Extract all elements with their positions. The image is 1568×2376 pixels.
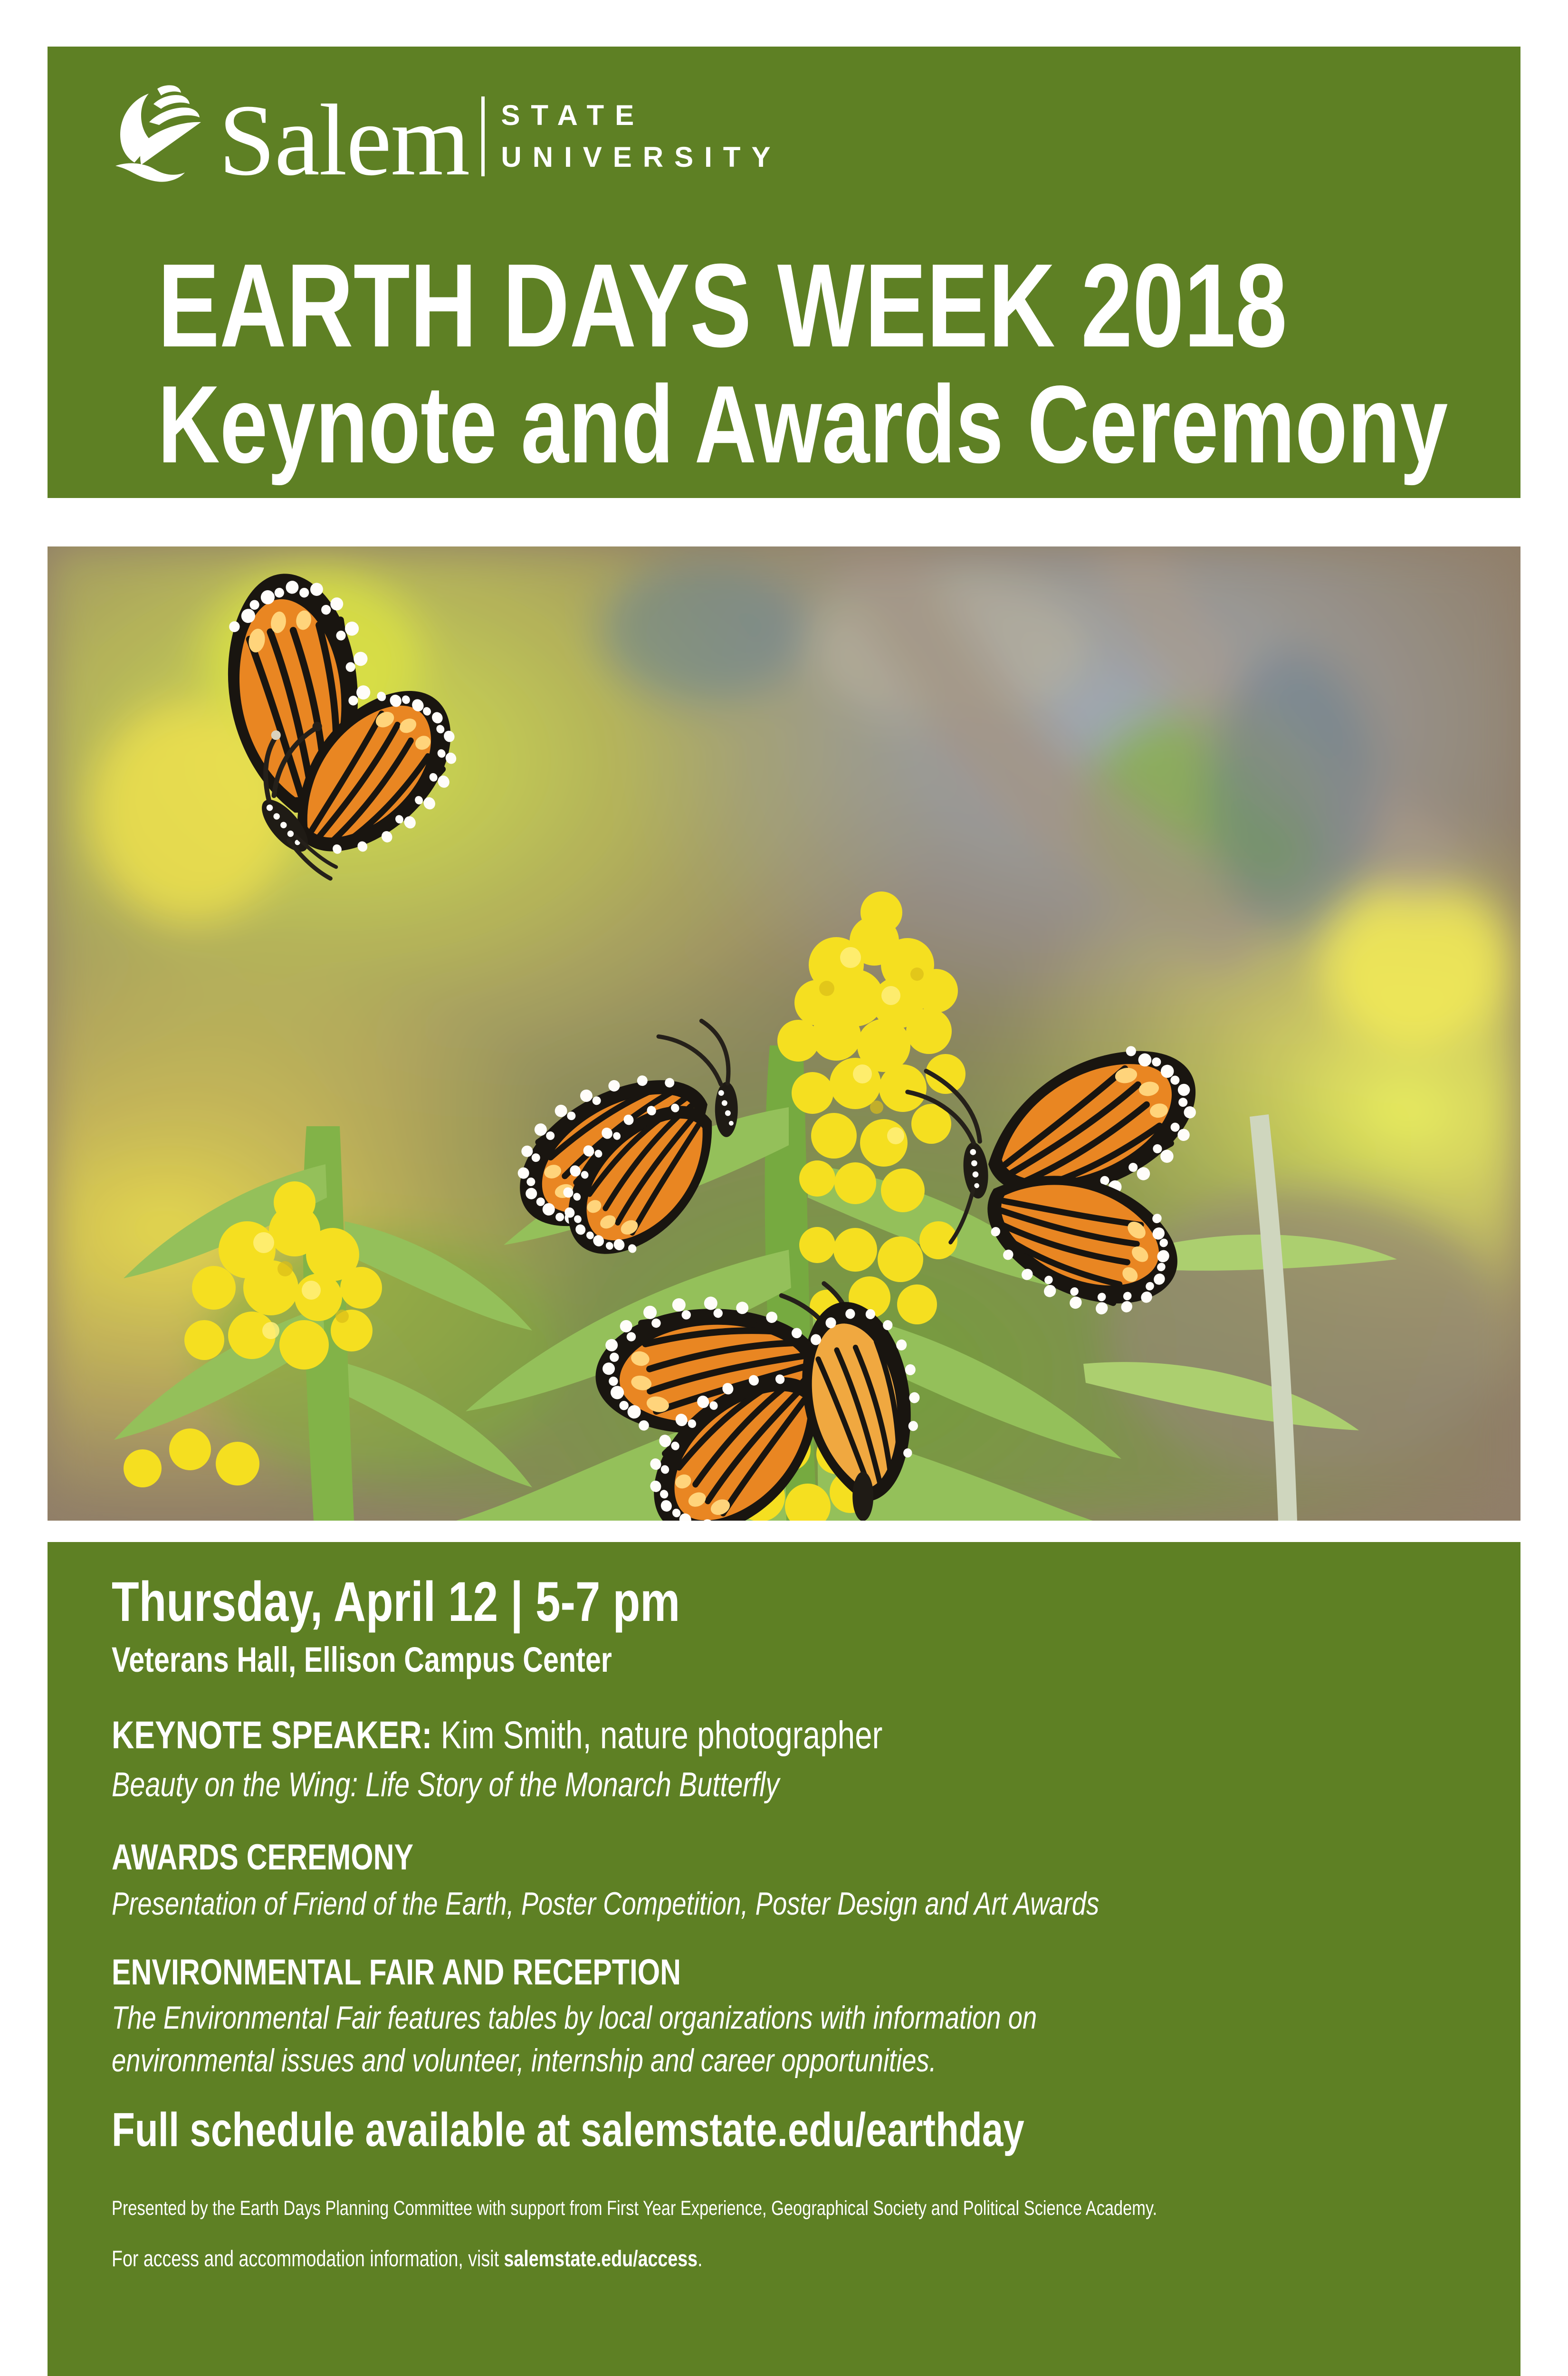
logo-wordmark: Salem [219,98,469,182]
environmental-fair-detail-line1: The Environmental Fair features tables b… [112,1999,1037,2036]
event-venue: Veterans Hall, Ellison Campus Center [112,1639,612,1680]
university-logo: Salem STATE UNIVERSITY [112,79,781,188]
hero-photo-monarch-butterflies [48,546,1520,1521]
environmental-fair-heading: ENVIRONMENTAL FAIR AND RECEPTION [112,1952,681,1993]
accessibility-link[interactable]: salemstate.edu/access [504,2246,698,2271]
accessibility-info: For access and accommodation information… [112,2245,703,2271]
awards-ceremony-detail: Presentation of Friend of the Earth, Pos… [112,1885,1099,1922]
environmental-fair-detail-line2: environmental issues and volunteer, inte… [112,2042,937,2079]
poster-title-line1: EARTH DAYS WEEK 2018 [158,246,1287,365]
accessibility-suffix: . [698,2246,702,2271]
butterfly-photo-illustration [48,546,1520,1521]
event-details-band: Thursday, April 12 | 5-7 pm Veterans Hal… [48,1542,1520,2376]
header-band: Salem STATE UNIVERSITY EARTH DAYS WEEK 2… [48,47,1520,498]
keynote-speaker-line: KEYNOTE SPEAKER: Kim Smith, nature photo… [112,1713,882,1758]
logo-divider-rule [481,96,485,176]
keynote-speaker-name: Kim Smith, nature photographer [441,1714,883,1757]
poster-title-line2: Keynote and Awards Ceremony [158,370,1448,480]
keynote-talk-title: Beauty on the Wing: Life Story of the Mo… [112,1765,779,1804]
keynote-speaker-label: KEYNOTE SPEAKER: [112,1714,432,1757]
accessibility-prefix: For access and accommodation information… [112,2246,504,2271]
event-date-time: Thursday, April 12 | 5-7 pm [112,1570,680,1634]
logo-state-text: STATE [501,95,781,136]
salem-state-sail-leaf-mark [112,85,214,182]
presenters-credit: Presented by the Earth Days Planning Com… [112,2197,1157,2220]
logo-subwordmark: STATE UNIVERSITY [501,96,781,177]
logo-university-text: UNIVERSITY [501,136,781,178]
full-schedule-cta[interactable]: Full schedule available at salemstate.ed… [112,2103,1024,2157]
awards-ceremony-heading: AWARDS CEREMONY [112,1837,413,1878]
poster: Salem STATE UNIVERSITY EARTH DAYS WEEK 2… [0,0,1568,2376]
